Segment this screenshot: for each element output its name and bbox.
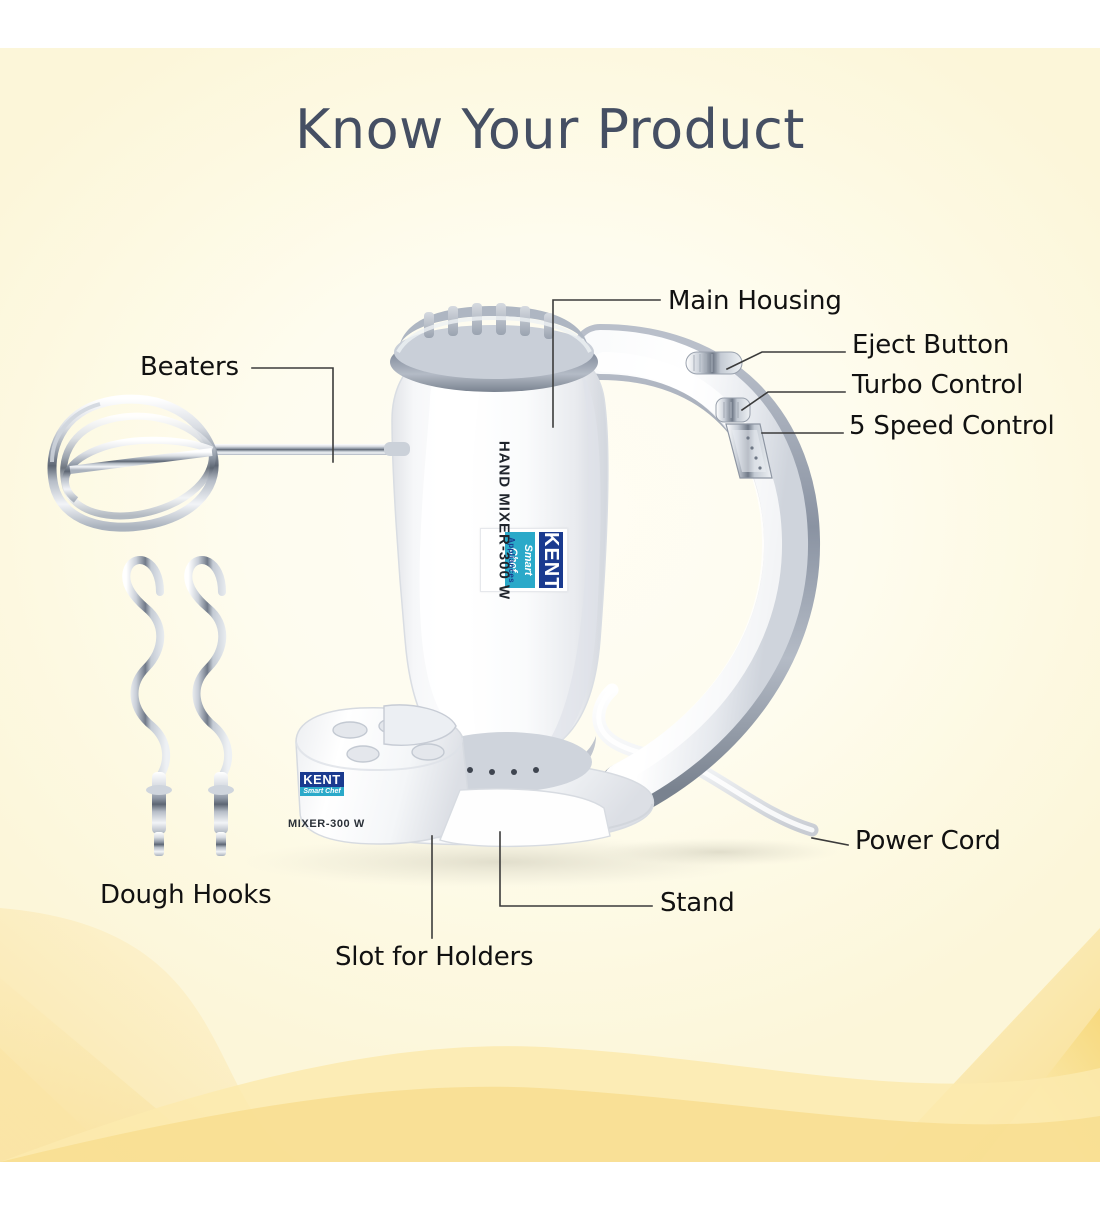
callout-label-speed-control: 5 Speed Control <box>849 411 1055 441</box>
leader-stand <box>500 832 652 906</box>
leader-lines <box>0 0 1100 1210</box>
callout-label-main-housing: Main Housing <box>668 286 842 316</box>
bottom-white-band <box>0 1162 1100 1210</box>
callout-label-slot-for-holders: Slot for Holders <box>335 942 533 972</box>
infographic-page: KENT Smart Chef Appliances HAND MIXER-30… <box>0 0 1100 1210</box>
callout-label-turbo-control: Turbo Control <box>852 370 1023 400</box>
callout-label-stand: Stand <box>660 888 735 918</box>
callout-label-power-cord: Power Cord <box>855 826 1001 856</box>
callout-label-beaters: Beaters <box>140 352 239 382</box>
leader-turbo-control <box>742 392 845 410</box>
callout-label-dough-hooks: Dough Hooks <box>100 880 271 910</box>
leader-power-cord <box>812 838 848 845</box>
leader-beaters <box>252 368 333 462</box>
leader-eject-button <box>727 352 845 369</box>
leader-main-housing <box>553 300 660 427</box>
callout-label-eject-button: Eject Button <box>852 330 1009 360</box>
page-title: Know Your Product <box>0 98 1100 161</box>
